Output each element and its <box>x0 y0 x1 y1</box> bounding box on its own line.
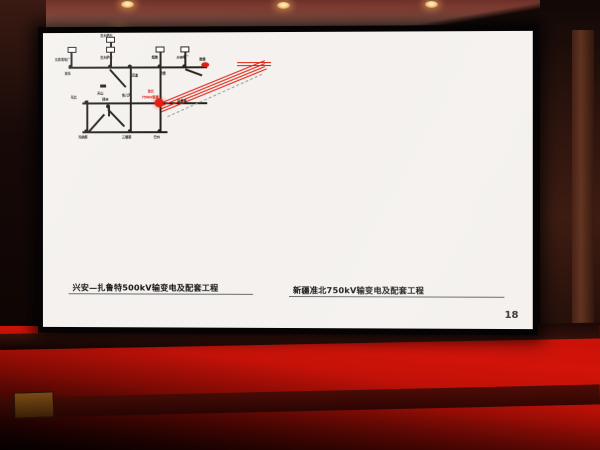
diagram-label-highlight: 准北 <box>148 88 154 93</box>
slide-page-number: 18 <box>504 310 518 321</box>
downlight-icon <box>425 1 438 8</box>
diagram-terminal-node <box>201 62 209 67</box>
diagram-label: 鱼儿沟 <box>122 92 131 97</box>
diagram-label: 吉木萨尔 <box>100 33 112 38</box>
diagram-node <box>182 64 186 68</box>
diagram-node <box>84 100 88 104</box>
highlight-line <box>237 62 271 63</box>
diagram-node <box>158 129 162 133</box>
diagram-label: 哈密 <box>160 70 166 75</box>
diagram-branch <box>130 102 132 132</box>
diagram-label: 烟墩 <box>152 55 158 60</box>
transformer-icon <box>68 47 77 53</box>
figure-right-caption: 新疆准北750kV输变电及配套工程 <box>293 284 424 296</box>
figure-one-line-diagram: 五彩湾电厂 吉木萨尔 吉木萨尔 烟墩 沙洲电厂 敦煌 准东 凤凰 哈密 天山 鱼… <box>43 32 271 142</box>
diagram-node <box>106 104 110 108</box>
diagram-label: 敦煌 <box>199 56 205 61</box>
diagram-label: 五彩湾电厂 <box>55 57 70 62</box>
diagram-node <box>69 65 73 69</box>
conference-room-scene: 国家电网 STATE GRID 国网能源研究院 STATE GRID ENERG… <box>0 0 600 450</box>
diagram-bus <box>82 131 167 133</box>
figure-left-caption: 兴安—扎鲁特500kV输变电及配套工程 <box>73 281 219 293</box>
downlight-icon <box>121 1 134 8</box>
transformer-icon <box>180 46 189 52</box>
diagram-node <box>128 65 132 69</box>
floor-access-panel <box>14 391 55 418</box>
diagram-node <box>128 129 132 133</box>
diagram-label: 天山 <box>97 91 103 96</box>
diagram-node <box>158 64 162 68</box>
diagram-label: 凤凰 <box>132 72 138 77</box>
diagram-label: 沙洲电厂 <box>176 54 188 59</box>
diagram-label: 绿洲 <box>102 96 108 101</box>
diagram-label: 三塘湖 <box>122 134 131 139</box>
diagram-label: 乌北 <box>71 95 77 100</box>
diagram-label: 吐鲁番 <box>177 98 186 103</box>
diagram-label: 巴州 <box>154 134 160 139</box>
right-wall-column <box>572 30 594 348</box>
diagram-label: 吉木萨尔 <box>100 55 112 60</box>
diagram-branch <box>86 100 88 132</box>
diagram-label: 玛纳斯 <box>78 134 87 139</box>
presentation-slide: 国家电网 STATE GRID 国网能源研究院 STATE GRID ENERG… <box>43 31 533 329</box>
transformer-icon <box>156 47 165 53</box>
diagram-label: 准东 <box>65 71 71 76</box>
diagram-node <box>84 129 88 133</box>
highlight-line <box>237 65 271 66</box>
transformer-icon <box>106 47 115 53</box>
diagram-node <box>108 65 112 69</box>
projection-screen: 国家电网 STATE GRID 国网能源研究院 STATE GRID ENERG… <box>38 25 538 335</box>
diagram-label-highlight: 750kV新建 <box>142 94 159 99</box>
downlight-icon <box>277 2 290 9</box>
diagram-load-block <box>100 85 106 88</box>
